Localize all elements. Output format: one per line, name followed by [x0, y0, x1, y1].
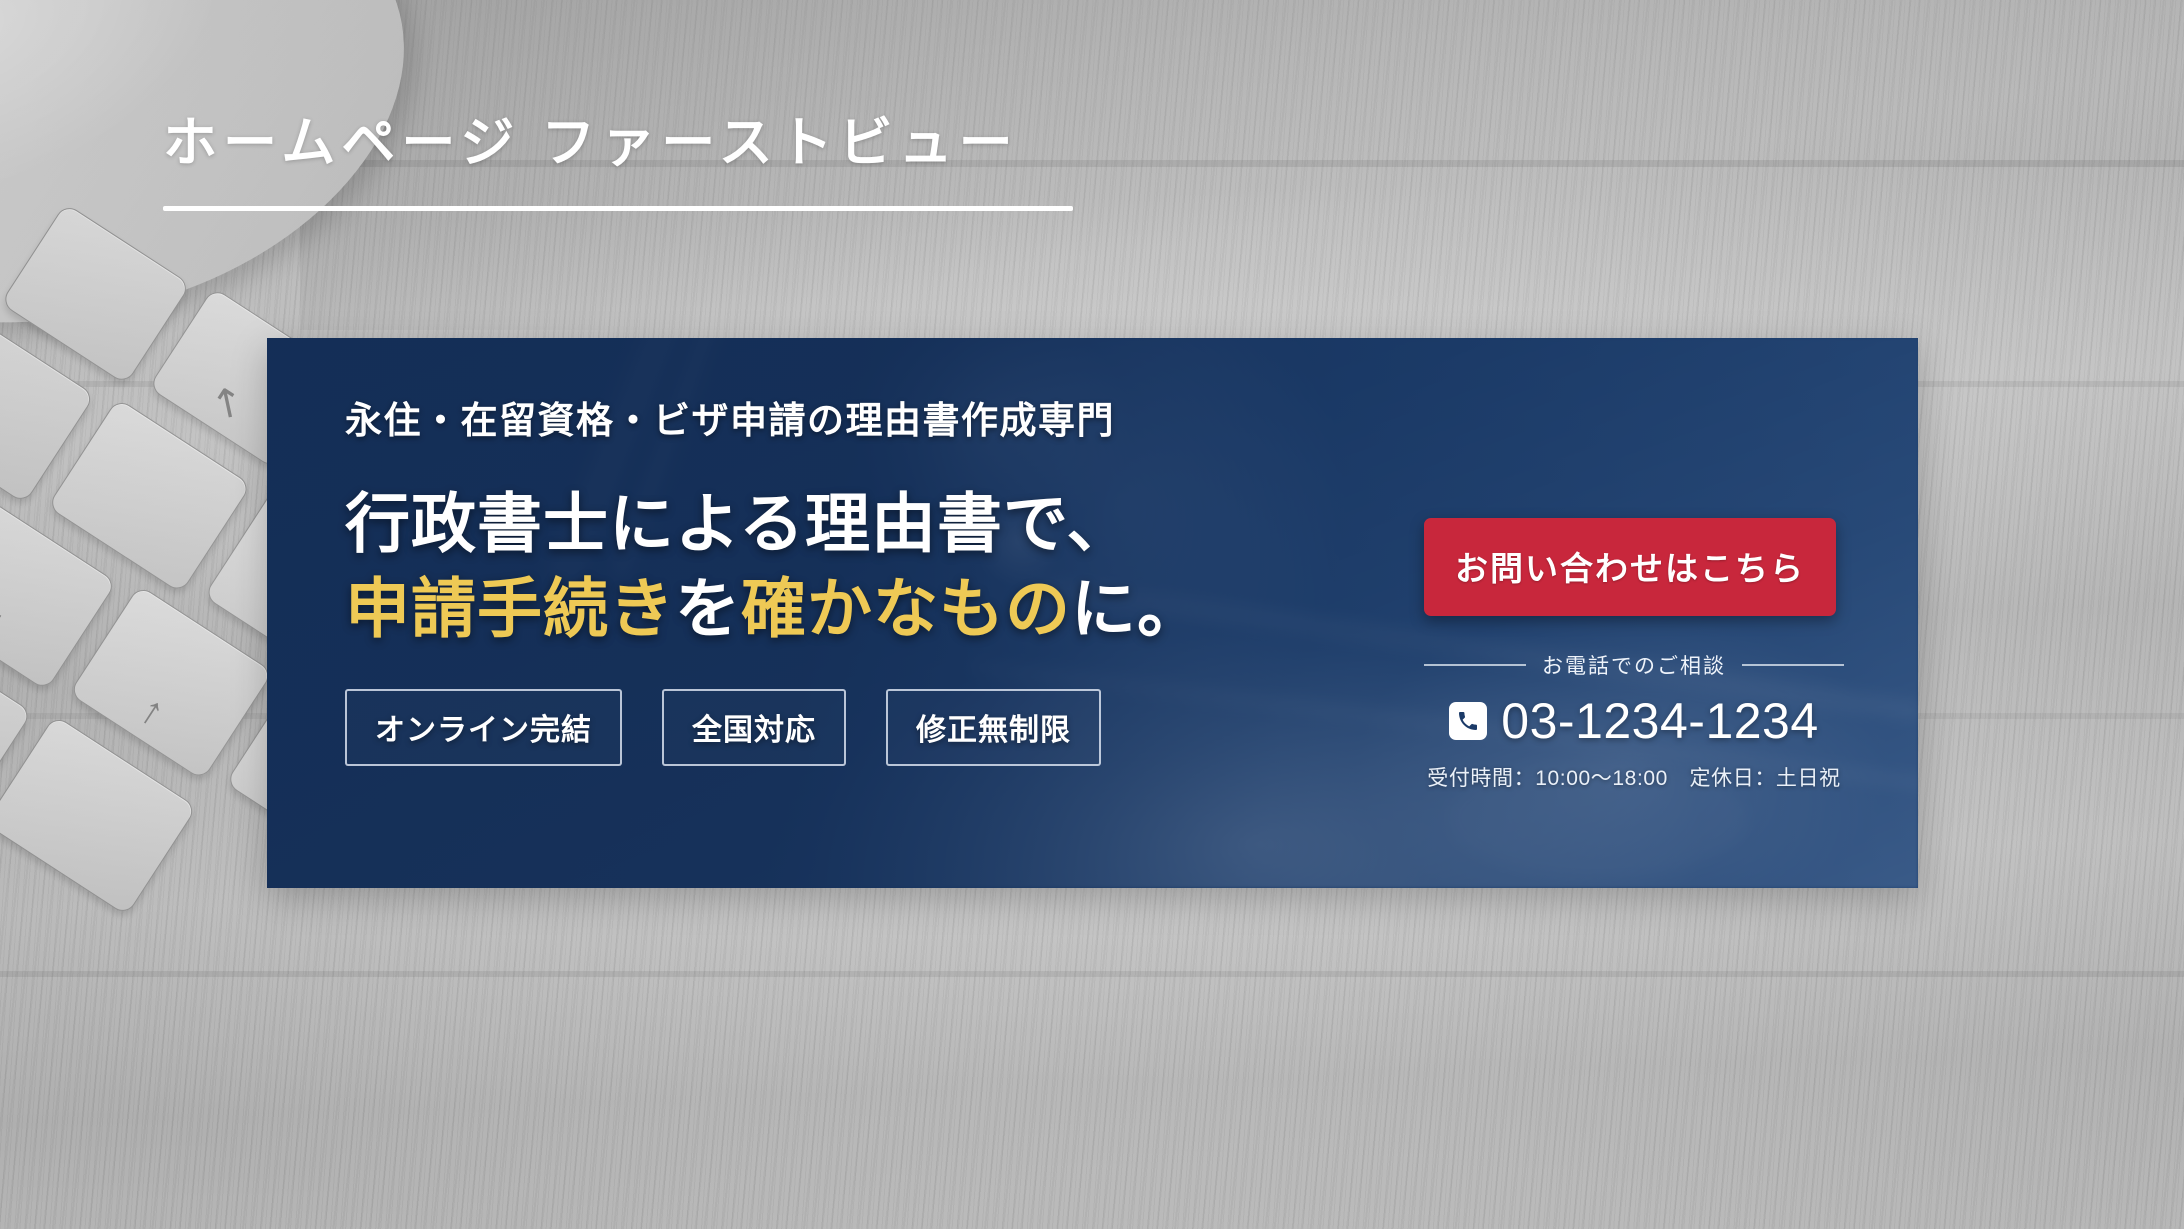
hero-heading-line-1: 行政書士による理由書で、 — [345, 482, 1285, 567]
hero-heading-gold-2: 確かなもの — [741, 572, 1071, 645]
page-title-underline — [163, 206, 1073, 211]
feature-tag-unlimited-revisions[interactable]: 修正無制限 — [886, 689, 1101, 766]
page-title-block: ホームページ ファーストビュー — [163, 110, 1083, 211]
phone-number[interactable]: 03-1234-1234 — [1501, 692, 1818, 750]
phone-row[interactable]: 03-1234-1234 — [1424, 692, 1844, 750]
hero-banner: 永住・在留資格・ビザ申請の理由書作成専門 行政書士による理由書で、 申請手続きを… — [267, 338, 1918, 888]
phone-divider-label: お電話でのご相談 — [1542, 650, 1726, 680]
hero-content: 永住・在留資格・ビザ申請の理由書作成専門 行政書士による理由書で、 申請手続きを… — [267, 338, 1918, 888]
feature-tag-online[interactable]: オンライン完結 — [345, 689, 622, 766]
hero-heading-gold-1: 申請手続き — [345, 572, 675, 645]
hero-left-column: 永住・在留資格・ビザ申請の理由書作成専門 行政書士による理由書で、 申請手続きを… — [345, 390, 1285, 766]
hero-heading-white-2: に。 — [1071, 572, 1203, 645]
page-title: ホームページ ファーストビュー — [163, 110, 1083, 178]
phone-divider: お電話でのご相談 — [1424, 650, 1844, 680]
hero-subheading: 永住・在留資格・ビザ申請の理由書作成専門 — [345, 390, 1285, 444]
feature-tag-nationwide[interactable]: 全国対応 — [662, 689, 846, 766]
hero-heading-line-2: 申請手続きを確かなものに。 — [345, 567, 1285, 652]
contact-cta-button[interactable]: お問い合わせはこちら — [1424, 518, 1836, 616]
hero-heading: 行政書士による理由書で、 申請手続きを確かなものに。 — [345, 482, 1285, 651]
page-root: ↖ ↩ : ¦ ↑ ↓ ← → ホームページ ファーストビュー 永住・在留資格・… — [0, 0, 2184, 1229]
hero-right-column: お問い合わせはこちら お電話でのご相談 03-1234-1234 受付時間：10… — [1424, 518, 1844, 792]
divider-line-right — [1742, 664, 1844, 666]
divider-line-left — [1424, 664, 1526, 666]
phone-icon — [1449, 702, 1487, 740]
business-hours: 受付時間：10:00〜18:00 定休日：土日祝 — [1424, 762, 1844, 792]
hero-heading-white-1: を — [675, 572, 741, 645]
hero-feature-tags: オンライン完結 全国対応 修正無制限 — [345, 689, 1285, 766]
